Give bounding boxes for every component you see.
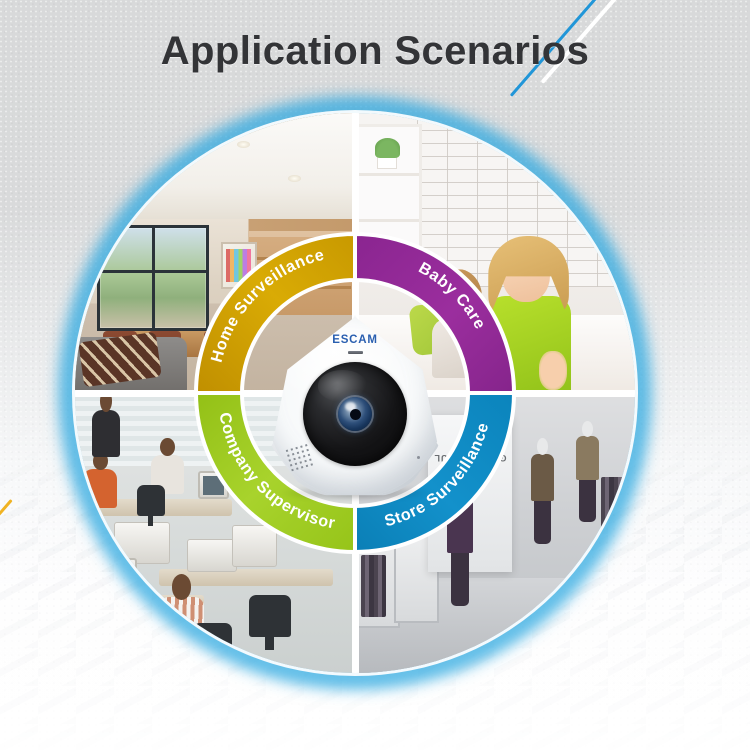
escam-logo: ESCAM [266, 334, 444, 346]
ceiling-light [288, 175, 301, 182]
application-scenarios-wheel: GUYS & SOUL [75, 113, 635, 673]
office-chair [137, 485, 165, 516]
escam-panoramic-camera: ESCAM [266, 315, 444, 497]
indicator-slot-icon [348, 351, 363, 354]
mannequin [529, 438, 557, 544]
ceiling-light [165, 158, 178, 165]
office-worker [83, 469, 117, 508]
potted-plant [375, 138, 400, 158]
office-chair [193, 623, 232, 662]
lens-glint [345, 402, 356, 410]
office-chair [249, 595, 291, 637]
ceiling [75, 113, 355, 219]
yellow-diagonal-line [0, 499, 13, 592]
computer-monitor [92, 558, 137, 597]
clothing-rack [361, 555, 386, 617]
camera-lens [338, 397, 372, 431]
mannequin [573, 421, 601, 522]
camera-dome [303, 362, 407, 466]
clothing-rack [601, 477, 629, 550]
office-worker [92, 410, 120, 458]
microphone-pinhole-icon [417, 456, 420, 459]
page-title: Application Scenarios [0, 29, 750, 74]
